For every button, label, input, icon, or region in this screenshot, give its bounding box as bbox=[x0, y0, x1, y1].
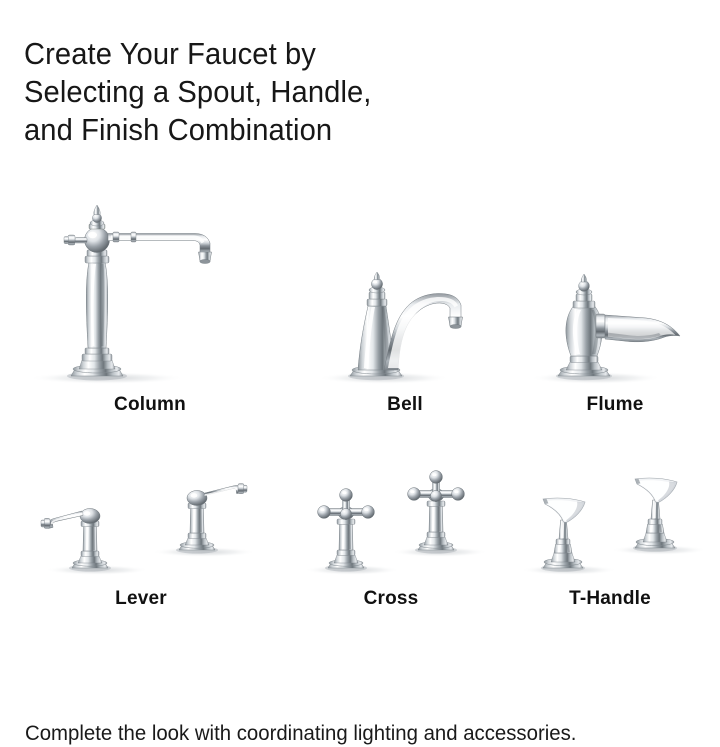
handle-option-label: Lever bbox=[115, 588, 167, 610]
spout-option-flume[interactable]: Flume bbox=[510, 196, 720, 416]
page-title: Create Your Faucet by Selecting a Spout,… bbox=[24, 35, 626, 149]
handle-option-label: Cross bbox=[364, 588, 419, 610]
t-handle-pair-icon bbox=[515, 458, 705, 580]
spout-option-label: Column bbox=[114, 394, 186, 416]
handle-option-cross[interactable]: Cross bbox=[282, 440, 500, 610]
handle-option-lever[interactable]: Lever bbox=[0, 440, 282, 610]
spout-option-column[interactable]: Column bbox=[0, 196, 300, 416]
handle-option-t-handle[interactable]: T-Handle bbox=[500, 440, 720, 610]
bell-spout-icon bbox=[320, 202, 490, 388]
handle-option-label: T-Handle bbox=[569, 588, 651, 610]
flume-spout-icon bbox=[530, 202, 700, 388]
column-spout-icon bbox=[35, 202, 265, 388]
spout-option-bell[interactable]: Bell bbox=[300, 196, 510, 416]
handle-style-row: Lever bbox=[0, 440, 720, 610]
footer-note: Complete the look with coordinating ligh… bbox=[25, 721, 685, 747]
lever-handle-pair-icon bbox=[24, 458, 259, 580]
spout-style-row: Column bbox=[0, 196, 720, 416]
spout-option-label: Flume bbox=[587, 394, 644, 416]
spout-option-label: Bell bbox=[387, 394, 423, 416]
cross-handle-pair-icon bbox=[296, 458, 486, 580]
